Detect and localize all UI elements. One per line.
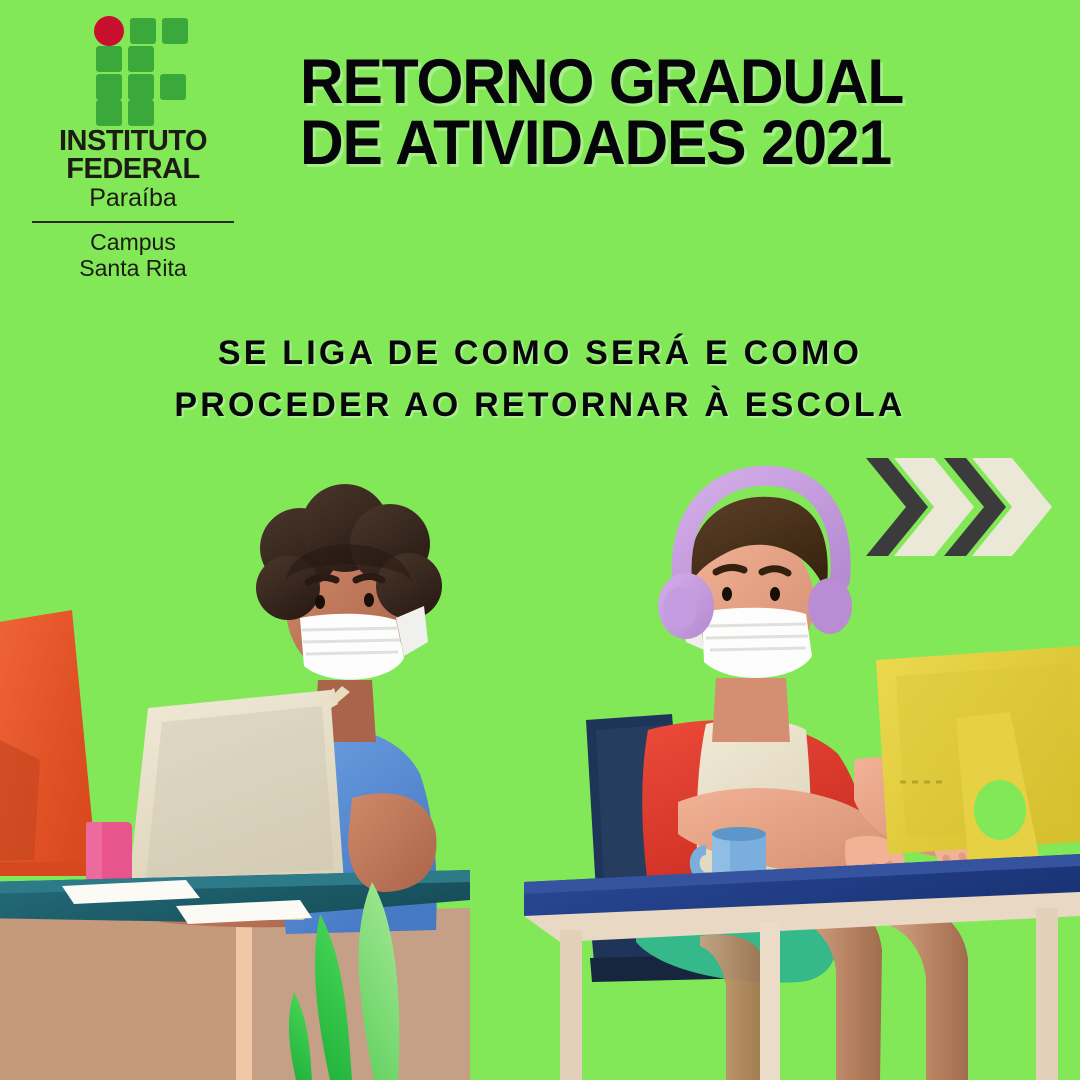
left-desk-panel xyxy=(0,908,240,1080)
right-student-eye-2 xyxy=(770,587,780,601)
left-student-eyebrow-2 xyxy=(356,577,382,581)
right-desk-leg-1 xyxy=(560,930,582,1080)
right-student-neck xyxy=(712,678,790,742)
orange-monitor xyxy=(0,610,100,876)
illustration-svg xyxy=(0,430,1080,1080)
left-student-group xyxy=(0,484,470,1080)
poster-canvas: INSTITUTO FEDERAL Paraíba Campus Santa R… xyxy=(0,0,1080,1080)
ifpb-logo-mark-icon xyxy=(74,14,192,122)
right-desk-leg-3 xyxy=(1036,908,1058,1080)
right-student-group xyxy=(524,476,1080,1080)
yellow-monitor xyxy=(876,646,1080,888)
monitor-stand-hole xyxy=(974,780,1026,840)
page-subtitle: SE LIGA DE COMO SERÁ E COMO PROCEDER AO … xyxy=(0,328,1080,431)
left-student-arm-near xyxy=(348,793,437,892)
right-desk-leg-2 xyxy=(760,922,780,1080)
logo-campus-name: Santa Rita xyxy=(18,255,248,282)
left-student-face-mask xyxy=(300,606,428,680)
logo-divider xyxy=(32,221,234,223)
right-student-eye-1 xyxy=(722,587,732,601)
page-subtitle-line-2: PROCEDER AO RETORNAR À ESCOLA xyxy=(0,380,1080,432)
classroom-illustration xyxy=(0,430,1080,1080)
left-student-head xyxy=(256,484,442,680)
left-desk-leg xyxy=(236,908,252,1080)
logo-campus-label: Campus xyxy=(18,229,248,256)
left-student-eye-1 xyxy=(315,595,325,609)
logo-state: Paraíba xyxy=(18,184,248,214)
page-title-line-2: DE ATIVIDADES 2021 xyxy=(300,113,1030,174)
right-student-head xyxy=(658,476,852,678)
page-subtitle-line-1: SE LIGA DE COMO SERÁ E COMO xyxy=(218,334,862,372)
right-student-leg-2 xyxy=(890,905,968,1080)
pink-mug xyxy=(86,822,132,884)
page-title: RETORNO GRADUAL DE ATIVIDADES 2021 xyxy=(300,52,1030,174)
headphone-cup-right xyxy=(808,578,852,634)
logo-institution-line-2: FEDERAL xyxy=(18,155,248,183)
page-title-line-1: RETORNO GRADUAL xyxy=(300,47,903,117)
ifpb-logo: INSTITUTO FEDERAL Paraíba Campus Santa R… xyxy=(18,14,248,282)
left-student-eye-2 xyxy=(364,593,374,607)
logo-institution-line-1: INSTITUTO xyxy=(18,128,248,155)
